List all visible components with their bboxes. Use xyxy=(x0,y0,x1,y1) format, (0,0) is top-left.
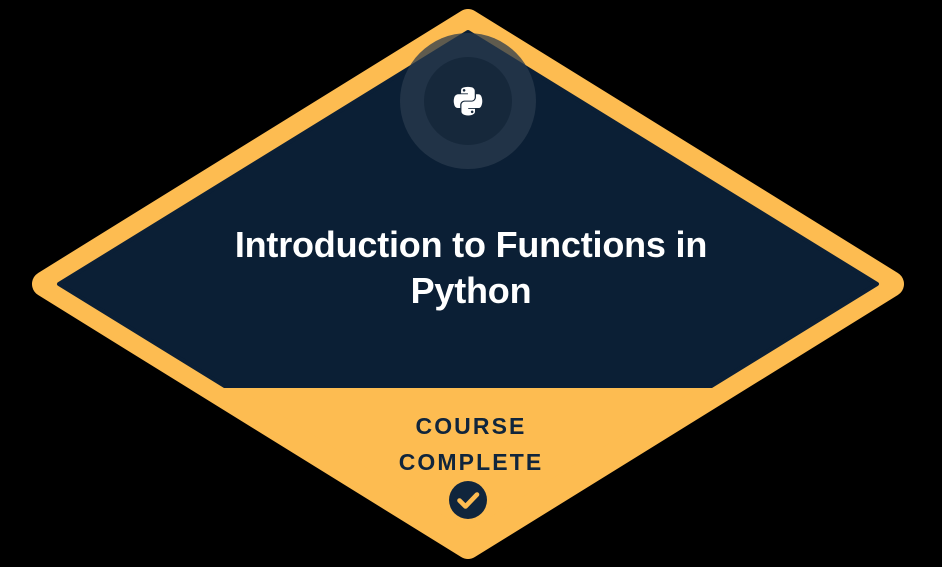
check-circle-icon xyxy=(449,481,487,519)
check-circle-background xyxy=(449,481,487,519)
badge-graphic xyxy=(0,0,942,567)
course-completion-badge: Introduction to Functions in Python COUR… xyxy=(0,0,942,567)
logo-ring-inner xyxy=(424,57,512,145)
logo-rings xyxy=(400,33,536,169)
